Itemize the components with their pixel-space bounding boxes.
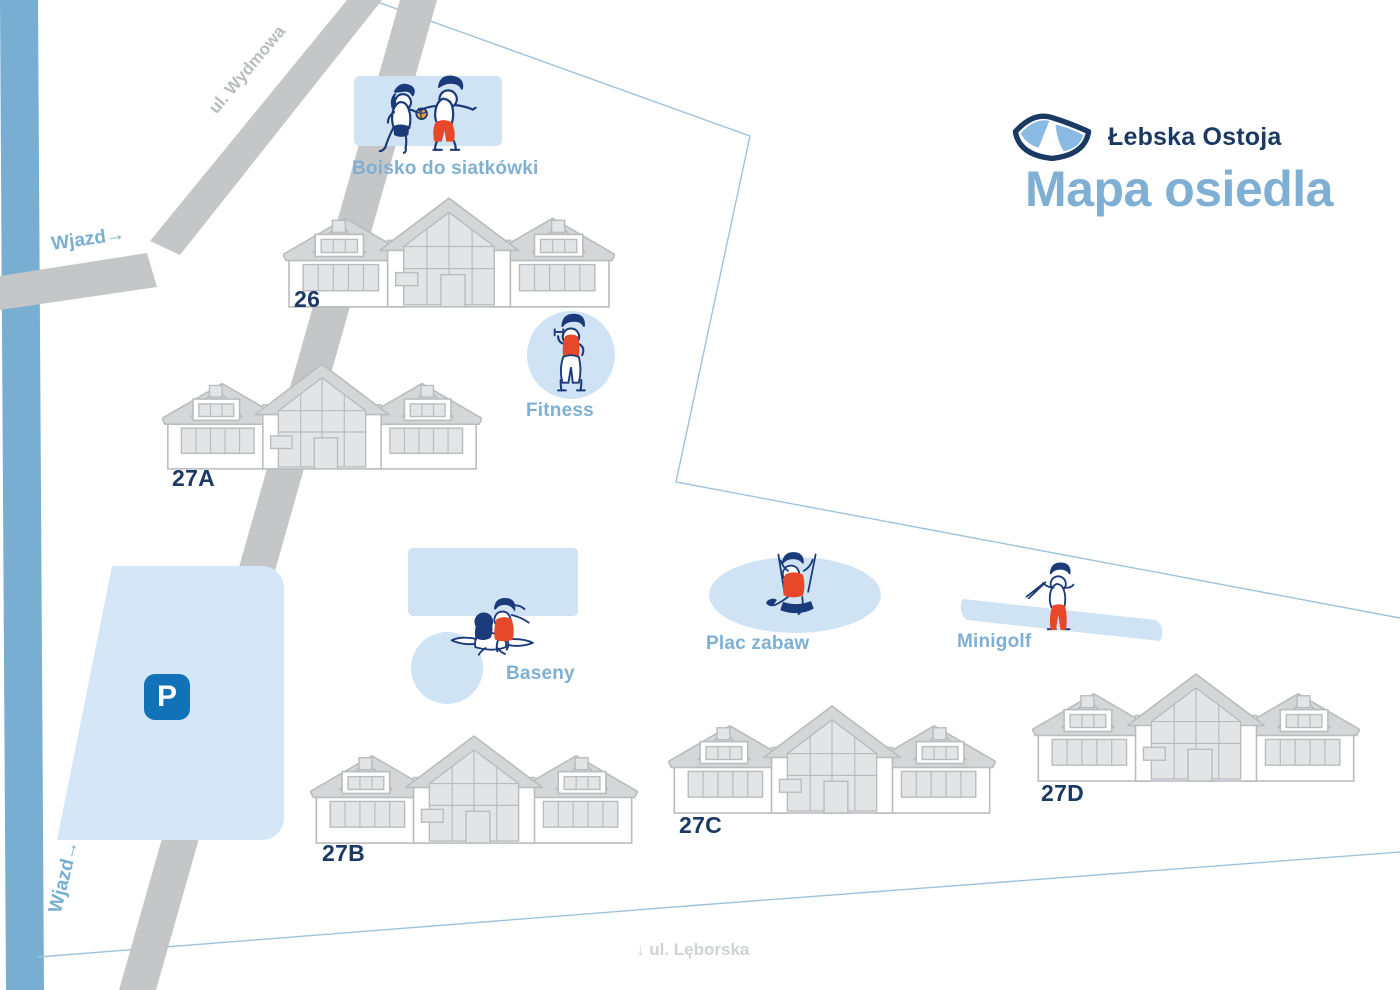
amenity-label-minigolf: Minigolf [957,631,1031,653]
building-label-27d: 27D [1041,780,1084,807]
amenity-label-pools: Baseny [506,663,575,685]
building-27c [668,706,995,813]
building-27b [310,736,637,843]
building-26 [283,198,615,307]
water-strip [0,0,44,990]
page-title: Mapa osiedla [994,160,1364,218]
building-label-27a: 27A [172,465,215,492]
brand-block: Łebska Ostoja Mapa osiedla [1010,112,1350,232]
amenity-label-volleyball: Boisko do siatkówki [352,158,538,180]
pool-main-shape [408,548,578,616]
building-27a [162,364,482,469]
volleyball-court-shape [354,76,502,146]
parking-icon[interactable]: P [144,674,190,720]
street-label-leborska: ↓ ul. Lęborska [636,940,749,960]
wave-mountain-logo-icon [1010,112,1094,162]
amenity-label-fitness: Fitness [526,400,594,422]
building-label-27b: 27B [322,840,365,867]
amenity-label-playground: Plac zabaw [706,633,809,655]
building-label-27c: 27C [679,812,722,839]
estate-map: .wall{fill:#ffffff;stroke:#b9bcbf;stroke… [0,0,1400,990]
building-label-26: 26 [294,286,320,313]
brand-name: Łebska Ostoja [1108,123,1282,152]
buildings [162,198,1360,843]
building-27d [1032,674,1359,781]
parking-badge-letter: P [157,682,177,712]
